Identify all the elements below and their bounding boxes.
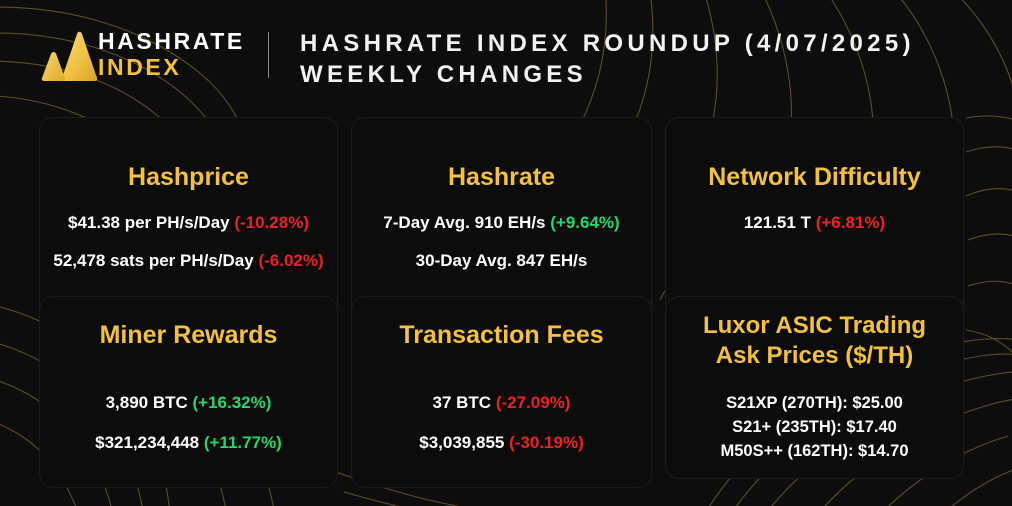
stat-change: (-27.09%) <box>496 393 571 412</box>
page-title: HASHRATE INDEX ROUNDUP (4/07/2025) WEEKL… <box>300 28 915 90</box>
stat-row: 3,890 BTC (+16.32%) <box>106 392 272 414</box>
card-network-difficulty: Network Difficulty 121.51 T (+6.81%) <box>666 118 963 324</box>
hashrate-index-logo-icon <box>38 26 104 82</box>
header-divider <box>268 32 269 78</box>
stat-change: (+11.77%) <box>204 433 282 452</box>
brand-line-index: INDEX <box>98 54 245 80</box>
asic-price-row: S21XP (270TH): $25.00 <box>726 391 903 415</box>
stat-row: 30-Day Avg. 847 EH/s <box>416 250 588 272</box>
card-luxor-asic-ask-prices: Luxor ASIC Trading Ask Prices ($/TH) S21… <box>666 297 963 478</box>
stat-value: 37 BTC <box>433 393 492 412</box>
asic-price-row: M50S++ (162TH): $14.70 <box>720 439 908 463</box>
stat-row: 37 BTC (-27.09%) <box>433 392 571 414</box>
stat-change: (-30.19%) <box>509 433 584 452</box>
stat-change: (+16.32%) <box>193 393 272 412</box>
stat-row: 7-Day Avg. 910 EH/s (+9.64%) <box>383 212 619 234</box>
stat-value: 121.51 T <box>744 213 811 232</box>
page-title-line-2: WEEKLY CHANGES <box>300 59 915 90</box>
stat-row: $41.38 per PH/s/Day (-10.28%) <box>68 212 309 234</box>
stat-change: (-6.02%) <box>258 251 323 270</box>
stat-value: 7-Day Avg. 910 EH/s <box>383 213 545 232</box>
page-header: HASHRATE INDEX HASHRATE INDEX ROUNDUP (4… <box>0 0 1012 104</box>
card-transaction-fees: Transaction Fees 37 BTC (-27.09%) $3,039… <box>352 297 651 487</box>
stat-change: (+9.64%) <box>550 213 619 232</box>
stat-value: 30-Day Avg. 847 EH/s <box>416 251 588 270</box>
asic-price-value: S21XP (270TH): $25.00 <box>726 394 903 412</box>
stat-change: (-10.28%) <box>234 213 309 232</box>
card-title: Miner Rewards <box>100 320 278 350</box>
stat-value: 3,890 BTC <box>106 393 188 412</box>
asic-price-value: M50S++ (162TH): $14.70 <box>720 442 908 460</box>
card-hashrate: Hashrate 7-Day Avg. 910 EH/s (+9.64%) 30… <box>352 118 651 324</box>
card-title: Transaction Fees <box>399 320 603 350</box>
stat-value: 52,478 sats per PH/s/Day <box>53 251 253 270</box>
brand-wordmark: HASHRATE INDEX <box>98 28 245 80</box>
stat-row: $3,039,855 (-30.19%) <box>419 432 583 454</box>
stat-value: $321,234,448 <box>95 433 199 452</box>
brand-line-hashrate: HASHRATE <box>98 28 245 54</box>
stat-row: 121.51 T (+6.81%) <box>744 212 885 234</box>
asic-price-value: S21+ (235TH): $17.40 <box>732 418 897 436</box>
asic-price-row: S21+ (235TH): $17.40 <box>732 415 897 439</box>
stat-value: $3,039,855 <box>419 433 504 452</box>
card-title: Hashprice <box>128 162 249 192</box>
stat-row: 52,478 sats per PH/s/Day (-6.02%) <box>53 250 323 272</box>
stat-row: $321,234,448 (+11.77%) <box>95 432 282 454</box>
card-miner-rewards: Miner Rewards 3,890 BTC (+16.32%) $321,2… <box>40 297 337 487</box>
stat-value: $41.38 per PH/s/Day <box>68 213 230 232</box>
stat-change: (+6.81%) <box>816 213 885 232</box>
page-title-line-1: HASHRATE INDEX ROUNDUP (4/07/2025) <box>300 28 915 59</box>
card-title: Luxor ASIC Trading Ask Prices ($/TH) <box>689 311 941 371</box>
card-hashprice: Hashprice $41.38 per PH/s/Day (-10.28%) … <box>40 118 337 324</box>
card-title: Network Difficulty <box>708 162 921 192</box>
card-title: Hashrate <box>448 162 555 192</box>
